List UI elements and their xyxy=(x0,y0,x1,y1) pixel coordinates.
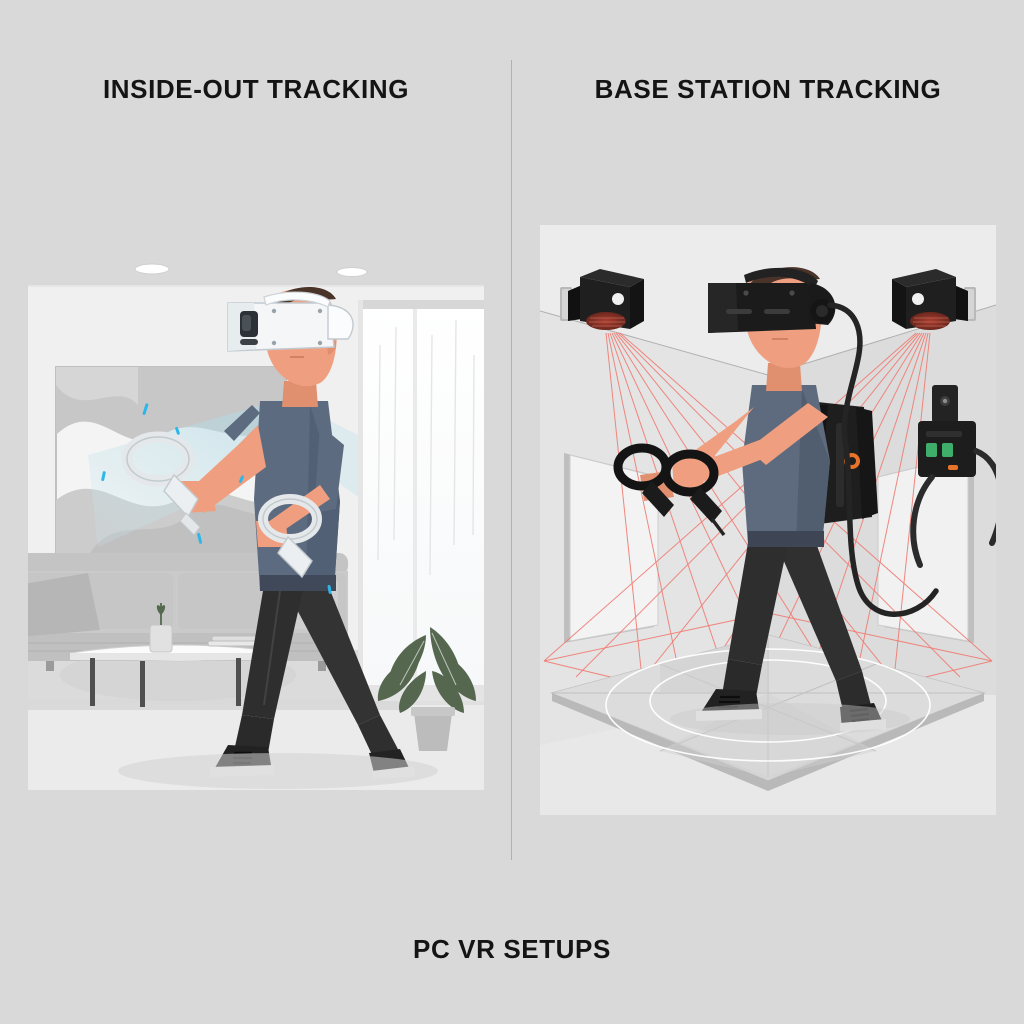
scene-base-station-tracking xyxy=(540,225,996,815)
base-station-left-lens xyxy=(586,312,626,330)
base-station-right-lens xyxy=(910,312,950,330)
vertical-divider xyxy=(511,60,512,860)
panel-title-left: INSIDE-OUT TRACKING xyxy=(0,74,512,105)
ceiling-light-1 xyxy=(135,264,169,274)
ceiling-lights-group xyxy=(28,255,484,295)
left-scene-group xyxy=(28,285,484,790)
panel-title-right: BASE STATION TRACKING xyxy=(512,74,1024,105)
bottom-caption: PC VR SETUPS xyxy=(0,934,1024,965)
user-floor-shadow xyxy=(670,703,910,735)
scene-inside-out-tracking xyxy=(28,285,484,790)
right-scene-group xyxy=(540,225,996,815)
illustration-canvas: INSIDE-OUT TRACKING BASE STATION TRACKIN… xyxy=(0,0,1024,1024)
ceiling-light-2 xyxy=(337,268,367,277)
user-floor-shadow xyxy=(118,753,438,789)
